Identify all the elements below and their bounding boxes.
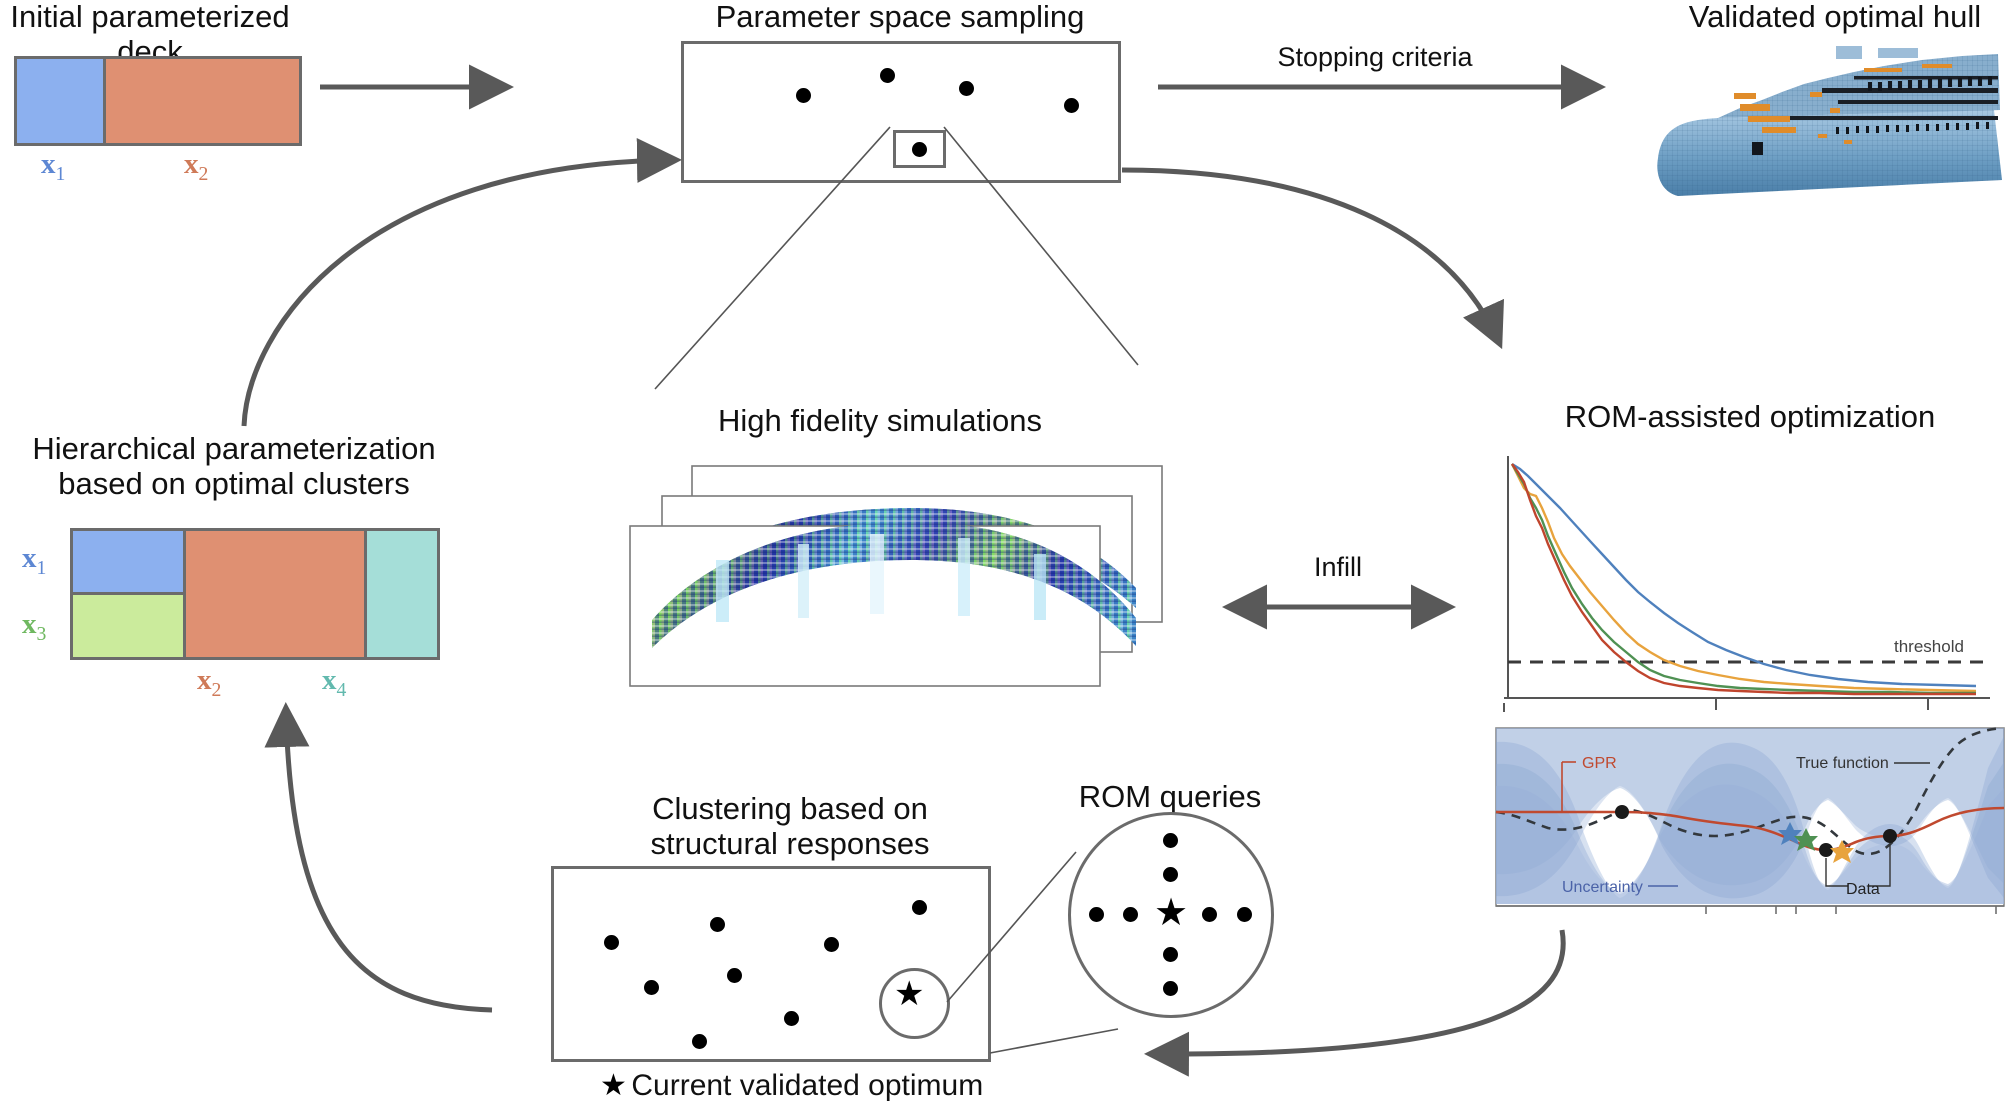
- rom-query-point: [1163, 833, 1178, 848]
- cluster-point: [824, 937, 839, 952]
- gpr-uncertainty-chart: GPR True function Uncertainty Data: [1496, 728, 2006, 914]
- deck-label-x2: x2: [184, 148, 208, 186]
- clustering-legend: ★ Current validated optimum: [600, 1068, 1020, 1103]
- validated-hull-image: [1622, 30, 2006, 205]
- sample-point: [959, 81, 974, 96]
- true-function-label: True function: [1796, 755, 1889, 772]
- threshold-label: threshold: [1894, 637, 1964, 656]
- cluster-point: [692, 1034, 707, 1049]
- arrow-infill-bidirectional: [1218, 594, 1468, 620]
- gpr-observation-point: [1615, 805, 1629, 819]
- high-fidelity-title: High fidelity simulations: [600, 404, 1160, 439]
- rom-convergence-chart: threshold: [1490, 450, 2000, 720]
- sample-point: [1064, 98, 1079, 113]
- arrow-stopping-criteria: [1156, 76, 1616, 98]
- arrow-deck-to-sampling: [318, 62, 518, 112]
- cluster-point: [727, 968, 742, 983]
- hier-segment-x1: [70, 528, 186, 595]
- hier-segment-x3: [70, 592, 186, 660]
- hierarchical-figure: [70, 528, 440, 660]
- high-fidelity-simulations-figure: [628, 450, 1188, 690]
- sample-point: [880, 68, 895, 83]
- cluster-point: [644, 980, 659, 995]
- hier-segment-x4: [364, 528, 440, 660]
- gpr-label: GPR: [1582, 755, 1617, 772]
- cluster-point: [710, 917, 725, 932]
- hier-label-x3: x3: [22, 608, 46, 646]
- infill-label: Infill: [1208, 552, 1468, 583]
- gpr-observation-point: [1883, 829, 1897, 843]
- rom-optimization-title: ROM-assisted optimization: [1500, 400, 2000, 435]
- deck-label-x1: x1: [41, 148, 65, 186]
- rom-query-point: [1237, 907, 1252, 922]
- rom-query-point: [1163, 981, 1178, 996]
- sample-point: [796, 88, 811, 103]
- rom-queries-title: ROM queries: [1020, 780, 1320, 815]
- cluster-point: [604, 935, 619, 950]
- arrow-clustering-to-hierarchical: [220, 690, 520, 1020]
- rom-query-point: [1163, 867, 1178, 882]
- rom-query-point: [1163, 947, 1178, 962]
- rom-query-point: [1202, 907, 1217, 922]
- arrow-sampling-to-rom-optimization: [1118, 140, 1638, 380]
- hier-label-x1: x1: [22, 542, 46, 580]
- hierarchical-title: Hierarchical parameterization based on o…: [10, 432, 458, 501]
- gpr-observation-point: [1819, 843, 1833, 857]
- legend-text: Current validated optimum: [631, 1069, 983, 1102]
- stopping-criteria-label: Stopping criteria: [1140, 42, 1610, 73]
- hier-label-x2: x2: [197, 664, 221, 702]
- arrow-hierarchical-to-sampling: [222, 128, 692, 428]
- deck-segment-x1: [14, 56, 106, 146]
- cluster-point: [784, 1011, 799, 1026]
- data-label: Data: [1846, 881, 1880, 898]
- rom-query-center-star: ★: [1151, 893, 1191, 933]
- rom-query-point: [1123, 907, 1138, 922]
- hier-segment-x2: [183, 528, 367, 660]
- uncertainty-label: Uncertainty: [1562, 879, 1643, 896]
- rom-query-point: [1089, 907, 1104, 922]
- parameter-space-title: Parameter space sampling: [660, 0, 1140, 35]
- legend-star-glyph: ★: [600, 1069, 627, 1102]
- rom-queries-circle: ★: [1068, 812, 1274, 1018]
